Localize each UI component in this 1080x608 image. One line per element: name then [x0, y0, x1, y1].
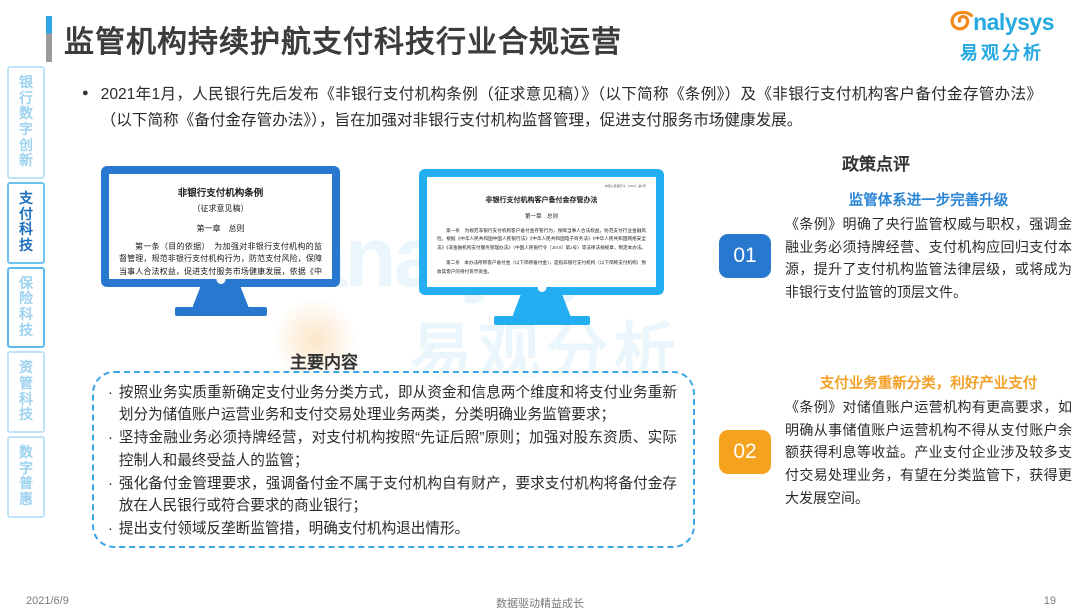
- list-bullet-icon-3: ·: [108, 518, 113, 540]
- monitor2-stand-base: [494, 316, 590, 325]
- intro-bullet-row: ● 2021年1月，人民银行先后发布《非银行支付机构条例（征求意见稿）》（以下简…: [82, 82, 1042, 134]
- list-bullet-icon-0: ·: [108, 382, 113, 426]
- monitor2-doc-chapter: 第一章 总则: [437, 212, 646, 220]
- monitor2-power-dot-icon: [537, 283, 546, 292]
- main-content-item: · 强化备付金管理要求，强调备付金不属于支付机构自有财产，要求支付机构将备付金存…: [108, 473, 677, 517]
- slide-canvas: analysys 易观分析 监管机构持续护航支付科技行业合规运营 nalysys…: [0, 0, 1080, 608]
- policy-badge-02: 02: [719, 430, 771, 474]
- policy-item-02-body: 《条例》对储值账户运营机构有更高要求，如明确从事储值账户运营机构不得从支付账户余…: [785, 398, 1072, 511]
- policy-item-01: 监管体系进一步完善升级 《条例》明确了央行监管权威与职权，强调金融业务必须持牌经…: [785, 189, 1072, 306]
- logo-cn-text: 易观分析: [950, 39, 1054, 65]
- monitor2-doc-stamp: 中国人民银行令〔2021〕第1号: [437, 184, 646, 188]
- policy-item-02-title: 支付业务重新分类，利好产业支付: [785, 372, 1072, 393]
- logo-en-text: nalysys: [973, 11, 1054, 34]
- main-content-item: · 坚持金融业务必须持牌经营，对支付机构按照“先证后照”原则；加强对股东资质、实…: [108, 427, 677, 471]
- monitor1-stand-neck: [193, 287, 249, 307]
- slide-header: 监管机构持续护航支付科技行业合规运营: [46, 16, 622, 62]
- main-content-text-0: 按照业务实质重新确定支付业务分类方式，即从资金和信息两个维度和将支付业务重新划分…: [119, 382, 677, 426]
- footer-slogan: 数据驱动精益成长: [496, 595, 584, 608]
- monitor1-stand-base: [175, 307, 267, 316]
- main-content-item: · 提出支付领域反垄断监管措，明确支付机构退出情形。: [108, 518, 677, 540]
- logo-top-row: nalysys: [950, 10, 1054, 35]
- monitor2-doc-body-2: 第二条 本办法所称客户备付金（以下简称备付金），是指非银行支付机构（以下简称支付…: [437, 259, 646, 276]
- monitor1-document: 非银行支付机构条例 （征求意见稿） 第一章 总则 第一条（目的依据） 为加强对非…: [109, 174, 332, 279]
- footer-page-number: 19: [1044, 595, 1056, 607]
- monitor1-doc-subtitle: （征求意见稿）: [119, 203, 322, 214]
- policy-item-01-title: 监管体系进一步完善升级: [785, 189, 1072, 210]
- monitor1-screen: 非银行支付机构条例 （征求意见稿） 第一章 总则 第一条（目的依据） 为加强对非…: [101, 166, 340, 287]
- title-accent-bar: [46, 16, 52, 62]
- monitor2-stand-neck: [513, 295, 571, 316]
- sidebar-item-insurance-tech[interactable]: 保险科技: [7, 267, 45, 349]
- list-bullet-icon-1: ·: [108, 427, 113, 471]
- main-content-heading: 主要内容: [290, 348, 358, 373]
- sidebar-item-label-0: 银行数字创新: [9, 75, 43, 169]
- policy-badge-02-label: 02: [733, 440, 756, 464]
- monitor2-doc-body: 第一条 为规范非银行支付机构客户备付金存管行为，保障当事人合法权益，防范支付行业…: [437, 227, 646, 252]
- monitor2-doc-title: 非银行支付机构客户备付金存管办法: [437, 195, 646, 205]
- monitor2-screen: 中国人民银行令〔2021〕第1号 非银行支付机构客户备付金存管办法 第一章 总则…: [419, 169, 664, 295]
- main-content-text-1: 坚持金融业务必须持牌经营，对支付机构按照“先证后照”原则；加强对股东资质、实际控…: [119, 427, 677, 471]
- monitor1-doc-chapter: 第一章 总则: [119, 223, 322, 234]
- main-content-text-3: 提出支付领域反垄断监管措，明确支付机构退出情形。: [119, 518, 677, 540]
- category-sidebar[interactable]: 银行数字创新 支付科技 保险科技 资管科技 数字普惠: [7, 66, 45, 521]
- policy-item-02: 支付业务重新分类，利好产业支付 《条例》对储值账户运营机构有更高要求，如明确从事…: [785, 372, 1072, 511]
- sidebar-item-asset-management-tech[interactable]: 资管科技: [7, 351, 45, 433]
- monitor1-doc-title: 非银行支付机构条例: [119, 185, 322, 199]
- sidebar-item-label-4: 数字普惠: [9, 445, 43, 508]
- monitor1-power-dot-icon: [216, 275, 225, 284]
- sidebar-item-label-3: 资管科技: [9, 360, 43, 423]
- sidebar-item-label-2: 保险科技: [9, 276, 43, 339]
- page-title: 监管机构持续护航支付科技行业合规运营: [64, 17, 622, 61]
- main-content-box: · 按照业务实质重新确定支付业务分类方式，即从资金和信息两个维度和将支付业务重新…: [92, 371, 695, 548]
- sidebar-item-bank-digital-innovation[interactable]: 银行数字创新: [7, 66, 45, 179]
- monitor-custody-rules: 中国人民银行令〔2021〕第1号 非银行支付机构客户备付金存管办法 第一章 总则…: [419, 169, 664, 295]
- sidebar-item-label-1: 支付科技: [9, 191, 43, 254]
- policy-item-01-body: 《条例》明确了央行监管权威与职权，强调金融业务必须持牌经营、支付机构应回归支付本…: [785, 215, 1072, 306]
- policy-badge-01-label: 01: [733, 244, 756, 268]
- intro-paragraph: 2021年1月，人民银行先后发布《非银行支付机构条例（征求意见稿）》（以下简称《…: [101, 82, 1042, 134]
- main-content-item: · 按照业务实质重新确定支付业务分类方式，即从资金和信息两个维度和将支付业务重新…: [108, 382, 677, 426]
- policy-review-heading: 政策点评: [842, 150, 910, 175]
- monitor2-document: 中国人民银行令〔2021〕第1号 非银行支付机构客户备付金存管办法 第一章 总则…: [427, 177, 656, 287]
- main-content-text-2: 强化备付金管理要求，强调备付金不属于支付机构自有财产，要求支付机构将备付金存放在…: [119, 473, 677, 517]
- bullet-icon: ●: [82, 82, 89, 134]
- monitor1-doc-body: 第一条（目的依据） 为加强对非银行支付机构的监督管理，规范非银行支付机构行为，防…: [119, 241, 322, 279]
- list-bullet-icon-2: ·: [108, 473, 113, 517]
- analysys-logo: nalysys 易观分析: [950, 10, 1054, 65]
- policy-badge-01: 01: [719, 234, 771, 278]
- monitor-regulation-draft: 非银行支付机构条例 （征求意见稿） 第一章 总则 第一条（目的依据） 为加强对非…: [101, 166, 340, 287]
- sidebar-item-payment-tech[interactable]: 支付科技: [7, 182, 45, 264]
- footer-date: 2021/6/9: [26, 595, 69, 607]
- sidebar-item-digital-inclusive-finance[interactable]: 数字普惠: [7, 436, 45, 518]
